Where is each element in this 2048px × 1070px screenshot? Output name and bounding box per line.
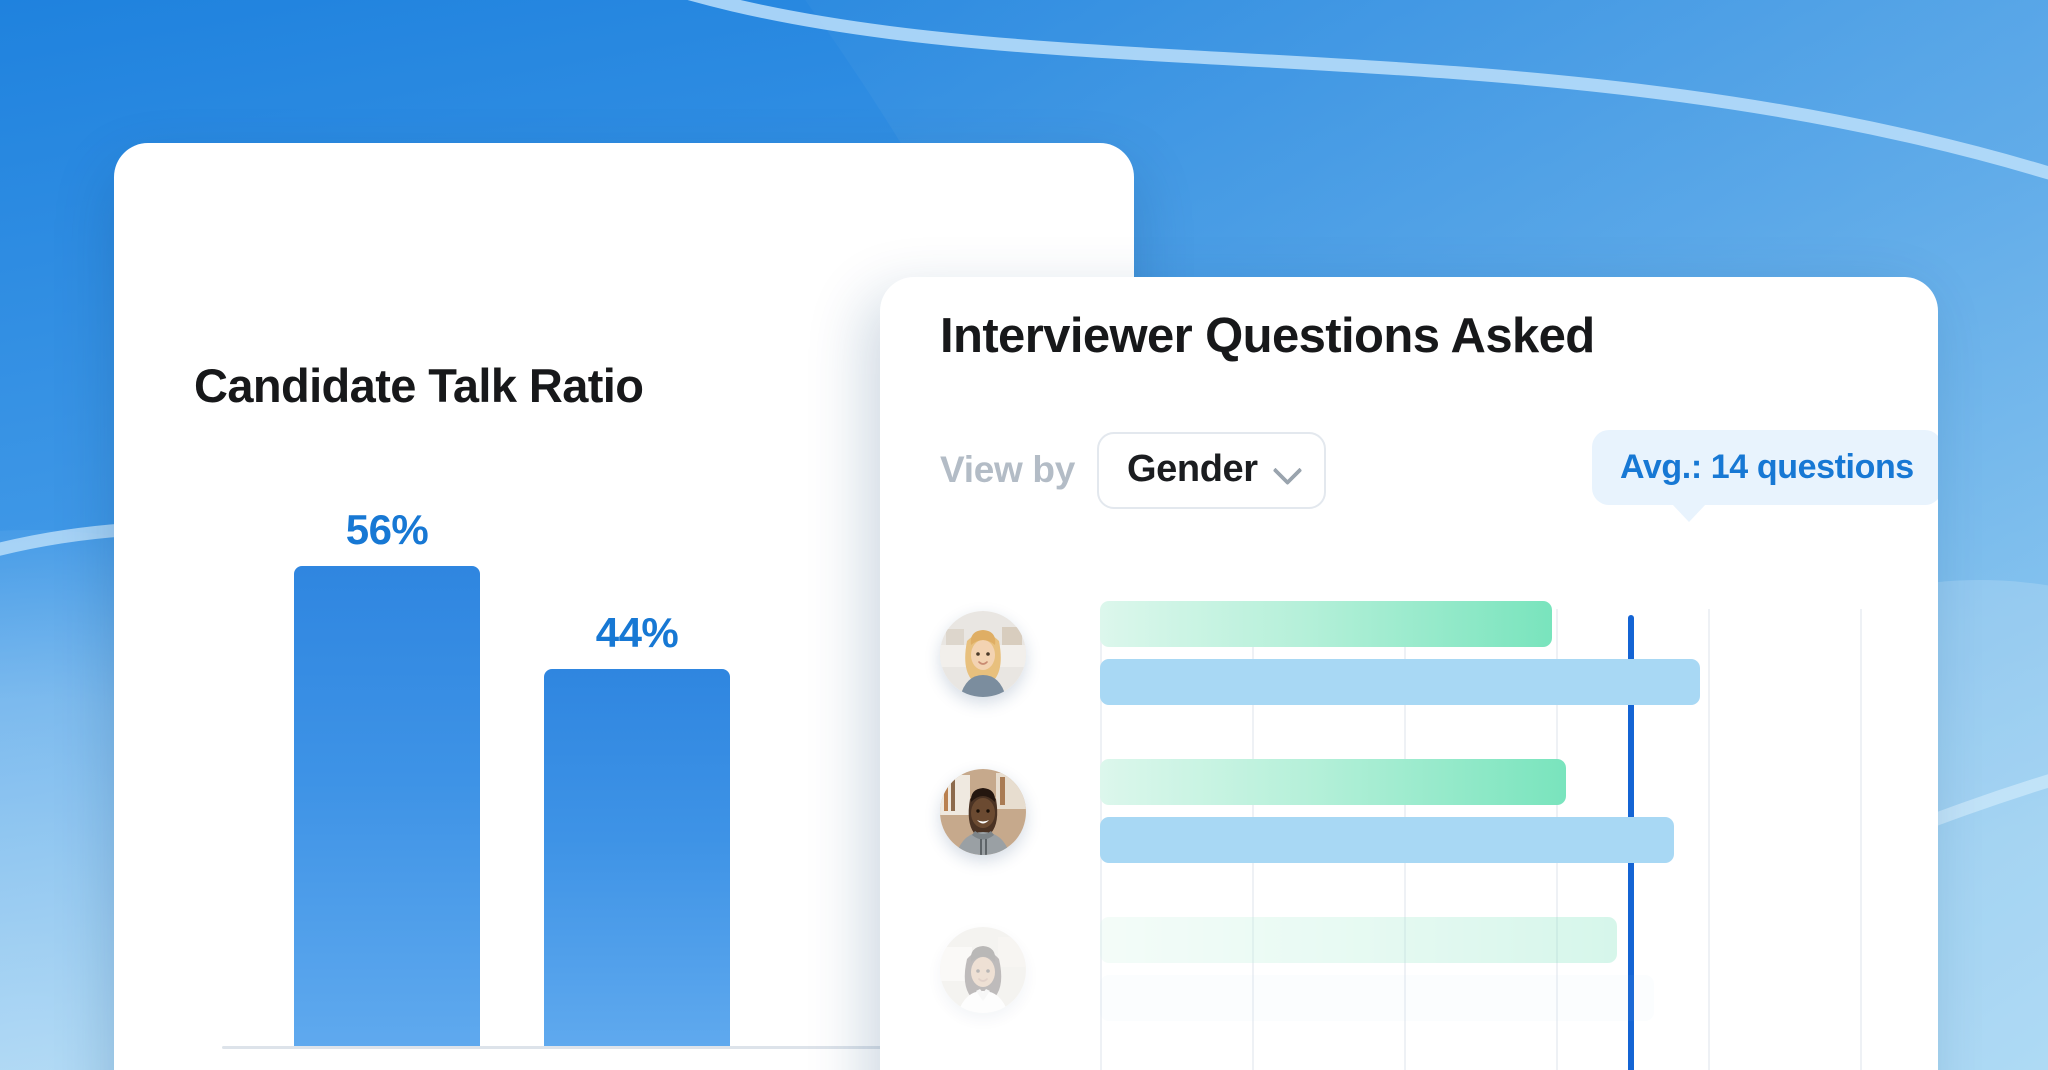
dimension-select[interactable]: Gender [1097,432,1326,509]
bar-group-female[interactable]: 44% [544,426,730,1046]
bar-male[interactable] [294,566,480,1046]
bar-female[interactable] [1100,917,1617,963]
talk-ratio-bar-chart: 56% 44% Male Female [194,473,954,1070]
bar-value-label-male: 56% [346,506,429,554]
chevron-down-icon [1274,456,1300,482]
bar-female[interactable] [1100,601,1552,647]
bar-female[interactable] [1100,759,1566,805]
bar-group-male[interactable]: 56% [294,426,480,1046]
average-tooltip-badge: Avg.: 14 questions [1592,430,1938,505]
avatar-man-hoodie[interactable] [940,769,1026,855]
avatar-woman-blonde[interactable] [940,611,1026,697]
bar-value-label-female: 44% [596,609,679,657]
page-title-talk-ratio: Candidate Talk Ratio [194,358,643,413]
list-item[interactable] [940,759,1900,919]
bar-pair [1100,917,1900,1033]
x-axis-line [222,1046,954,1049]
view-by-label: View by [940,449,1075,491]
bar-male[interactable] [1100,659,1700,705]
bar-male[interactable] [1100,817,1674,863]
bar-pair [1100,759,1900,875]
bar-pair [1100,601,1900,717]
interviewer-questions-card: Interviewer Questions Asked View by Gend… [880,277,1938,1070]
bar-female[interactable] [544,669,730,1046]
bar-male[interactable] [1100,975,1654,1021]
list-item[interactable] [940,601,1900,761]
interviewer-questions-bar-chart [940,601,1900,1070]
avatar-woman-dark-hair[interactable] [940,927,1026,1013]
view-by-control-group: View by Gender [940,430,1326,510]
dimension-select-value: Gender [1127,448,1258,491]
list-item[interactable] [940,917,1900,1070]
page-title-interviewer-questions: Interviewer Questions Asked [940,308,1595,364]
